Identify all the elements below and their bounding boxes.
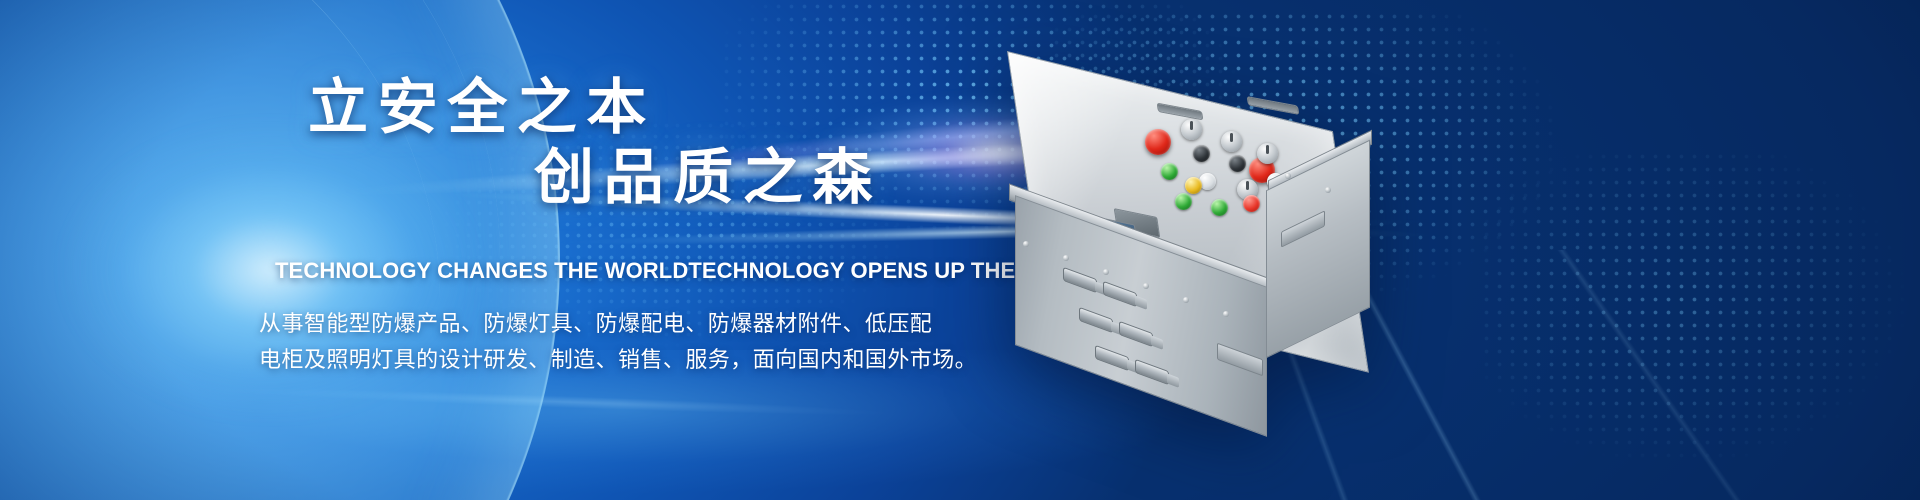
flange-bolt-6	[1223, 311, 1229, 317]
selector-knob-3[interactable]	[1257, 143, 1278, 164]
side-bolt-1	[1285, 173, 1291, 179]
push-button-black-2[interactable]	[1229, 155, 1246, 172]
flange-bolt-4	[1143, 283, 1149, 289]
description-line-2: 电柜及照明灯具的设计研发、制造、销售、服务，面向国内和国外市场。	[259, 342, 977, 378]
flange-bolt-1	[1023, 241, 1029, 247]
selector-knob-2[interactable]	[1221, 131, 1242, 152]
push-button-green-1[interactable]	[1161, 163, 1178, 180]
headline-line-1: 立安全之本	[308, 78, 656, 138]
emergency-stop-button[interactable]	[1145, 129, 1171, 155]
push-button-red-1[interactable]	[1243, 195, 1260, 212]
description-line-1: 从事智能型防爆产品、防爆灯具、防爆配电、防爆器材附件、低压配	[259, 306, 977, 342]
headline-line-2: 创品质之森	[534, 148, 882, 208]
description-text: 从事智能型防爆产品、防爆灯具、防爆配电、防爆器材附件、低压配 电柜及照明灯具的设…	[259, 306, 977, 378]
indicator-lamp-yellow	[1185, 177, 1202, 194]
flange-bolt-2	[1063, 255, 1069, 261]
side-bolt-2	[1325, 187, 1331, 193]
flange-bolt-3	[1103, 269, 1109, 275]
push-button-green-3[interactable]	[1211, 199, 1228, 216]
hero-banner: 立安全之本 创品质之森 TECHNOLOGY CHANGES THE WORLD…	[0, 0, 1920, 500]
push-button-black-1[interactable]	[1193, 145, 1210, 162]
flange-bolt-5	[1183, 297, 1189, 303]
product-image-explosion-proof-cabinet	[985, 45, 1505, 445]
halftone-dots-bottom-right	[1480, 150, 1920, 480]
banner-copy: 立安全之本 创品质之森 TECHNOLOGY CHANGES THE WORLD…	[0, 0, 1100, 500]
push-button-green-2[interactable]	[1175, 193, 1192, 210]
selector-knob-1[interactable]	[1181, 119, 1202, 140]
